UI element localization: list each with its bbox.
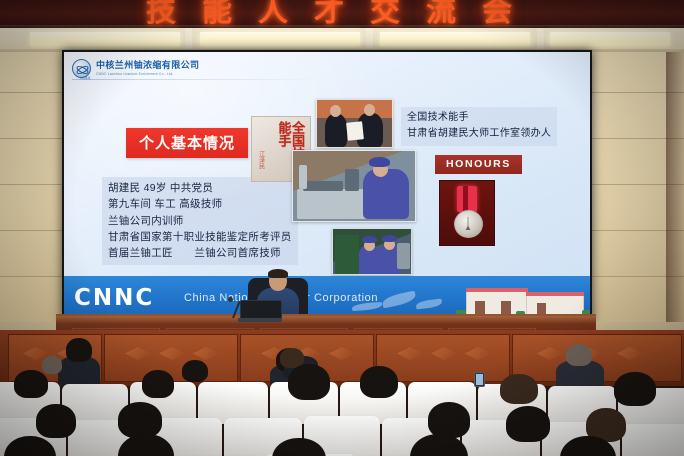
personal-info-block: 胡建民 49岁 中共党员 第九车间 车工 高级技师 兰铀公司内训师 甘肃省国家第…: [102, 177, 298, 265]
award-head-left: [330, 105, 341, 117]
audience-head-r1-6: [614, 372, 656, 406]
slide-logo: 中核集团 中核兰州铀浓缩有限公司 CNNC Lanzhou Uranium En…: [72, 59, 199, 78]
building-door-left: [475, 301, 485, 314]
honour-titles-text: 全国技术能手 甘肃省胡建民大师工作室领办人: [401, 107, 557, 146]
ceiling-light-3: [380, 32, 530, 46]
audience-head-far-1: [66, 338, 92, 362]
award-certificate: [346, 121, 364, 141]
team-worker-2-cap: [382, 235, 397, 242]
audience-head-r2-3: [428, 402, 470, 438]
led-banner: 技能人才交流会: [0, 0, 684, 30]
lathe-bed: [303, 181, 343, 191]
presenter-hair: [268, 269, 288, 278]
audience-head-r1-1: [14, 370, 48, 398]
slide-title-banner: 个人基本情况: [126, 128, 248, 158]
honours-banner: HONOURS: [435, 155, 522, 174]
facility-building-right: [526, 294, 584, 316]
presenter-laptop: [238, 300, 282, 322]
desk-top-surface: [56, 316, 596, 323]
lathe-head: [345, 169, 359, 191]
projection-screen: 中核集团 中核兰州铀浓缩有限公司 CNNC Lanzhou Uranium En…: [62, 50, 592, 322]
presentation-slide: 中核集团 中核兰州铀浓缩有限公司 CNNC Lanzhou Uranium En…: [64, 52, 590, 320]
info-line-1: 胡建民 49岁 中共党员: [108, 180, 292, 196]
team-equipment: [397, 243, 410, 269]
workshop-lathe-photo: [292, 150, 416, 222]
microphone-head: [228, 297, 233, 302]
lathe-column: [299, 165, 307, 189]
lathe-body: [297, 189, 369, 219]
seat-r2-9: [622, 424, 684, 456]
right-line-2: 甘肃省胡建民大师工作室领办人: [407, 126, 551, 142]
info-line-4: 甘肃省国家第十职业技能鉴定所考评员: [108, 229, 292, 245]
workshop-team-photo: [332, 228, 412, 275]
dove-icon-1: [381, 291, 417, 309]
panel-diamond-5: [193, 347, 219, 360]
audience-head-r1-3: [288, 364, 330, 400]
audience-head-far-4: [182, 360, 208, 382]
ceiling-light-1: [30, 32, 180, 46]
team-worker-1-cap: [362, 236, 377, 243]
right-line-1: 全国技术能手: [407, 110, 551, 126]
panel-diamond-9: [397, 347, 423, 360]
audience-head-far-2: [42, 356, 62, 374]
award-figure-left: [325, 114, 347, 147]
ceiling-light-4: [550, 32, 670, 46]
audience-head-r2-1: [36, 404, 76, 438]
building-door-left-2: [501, 301, 511, 314]
right-wall-shadow: [666, 52, 684, 342]
audience-head-r2-4: [506, 406, 550, 442]
audience-head-r1-5: [500, 374, 538, 404]
worker-body: [363, 169, 409, 219]
panel-diamond-4: [159, 347, 185, 360]
plaque-signature: 江泽民: [257, 151, 264, 169]
panel-diamond-11: [465, 347, 491, 360]
worker-cap: [369, 157, 390, 167]
building-roof-right: [526, 292, 584, 296]
audience-head-r1-4: [360, 366, 398, 398]
panel-diamond-3: [125, 347, 151, 360]
laptop-base: [238, 318, 282, 322]
dove-icon-2: [416, 299, 443, 310]
panel-diamond-12: [537, 347, 563, 360]
audience-head-r1-2: [142, 370, 174, 398]
cnnc-logo-icon: 中核集团: [72, 59, 91, 78]
cnnc-wordmark: CNNC: [74, 285, 154, 311]
green-machine: [335, 235, 359, 274]
medal-disc: [454, 210, 483, 238]
award-head-right: [364, 104, 375, 116]
audience-area: [0, 330, 684, 456]
audience-head-r2-2: [118, 402, 162, 438]
left-wall: [0, 52, 66, 342]
building-door-right: [537, 303, 546, 314]
info-line-2: 第九车间 车工 高级技师: [108, 196, 292, 212]
ceiling-light-2: [200, 32, 360, 46]
phone-screen: [476, 374, 483, 385]
conference-hall-photo: 技能人才交流会 中核集团: [0, 0, 684, 456]
slide-header-rule: [72, 79, 322, 80]
panel-diamond-8: [329, 347, 355, 360]
audience-phone[interactable]: [474, 372, 485, 387]
info-line-3: 兰铀公司内训师: [108, 213, 292, 229]
panel-diamond-14: [617, 347, 643, 360]
logo-english-name: CNNC Lanzhou Uranium Enrichment Co., Ltd…: [96, 72, 199, 76]
award-ceremony-photo: [316, 99, 393, 148]
logo-chinese-name: 中核兰州铀浓缩有限公司: [96, 61, 199, 70]
panel-diamond-10: [431, 347, 457, 360]
laptop-screen: [240, 300, 282, 320]
audience-head-far-6: [566, 344, 592, 366]
info-line-5: 首届兰铀工匠 兰铀公司首席技师: [108, 245, 292, 261]
medal-photo: [439, 180, 495, 246]
building-roof-left: [466, 288, 528, 292]
medal-ribbon: [457, 186, 477, 212]
